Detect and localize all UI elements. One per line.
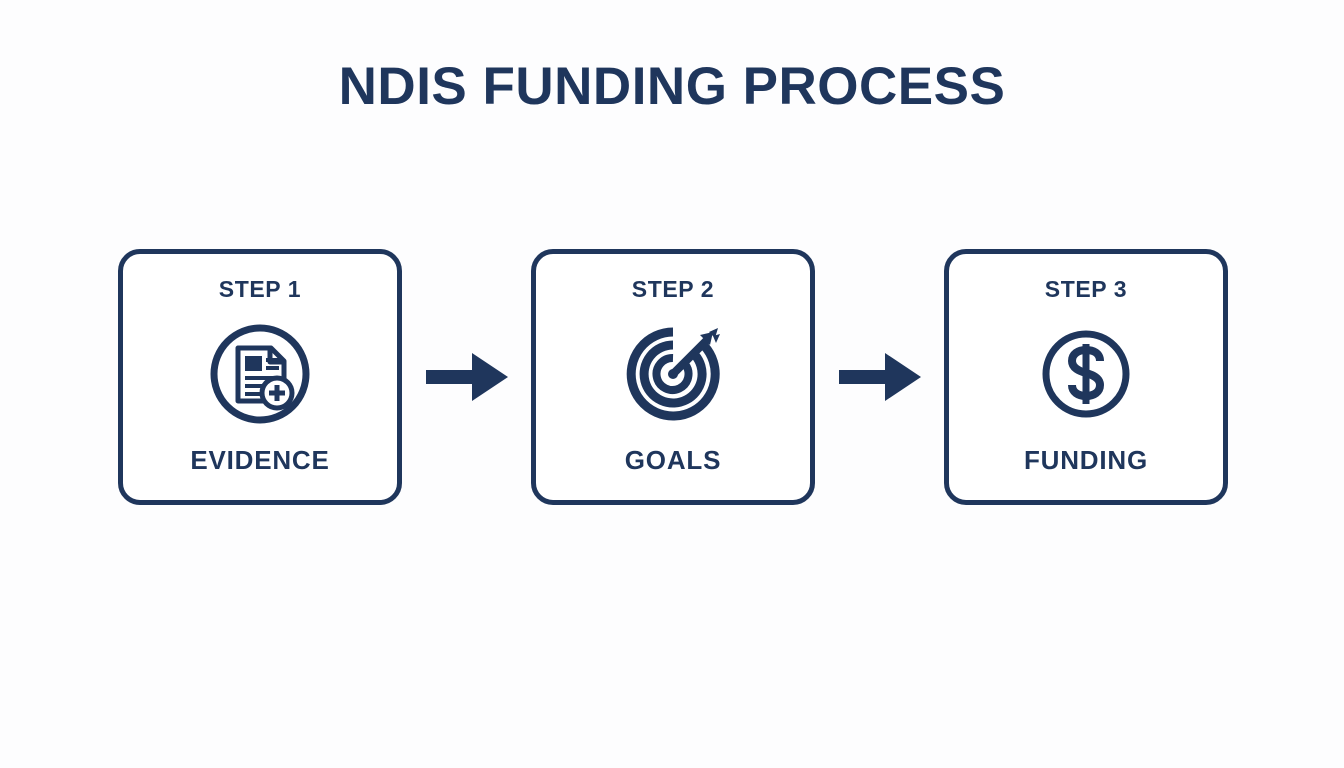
step-card-2-label: GOALS xyxy=(625,445,721,476)
step-card-3-label: FUNDING xyxy=(1024,445,1148,476)
arrow-right-icon xyxy=(424,348,510,406)
step-card-3-title: STEP 3 xyxy=(1045,276,1127,303)
document-plus-icon xyxy=(208,322,312,426)
process-flow: STEP 1 xyxy=(118,249,1228,505)
diagram-canvas: NDIS FUNDING PROCESS STEP 1 xyxy=(0,0,1344,768)
page-title: NDIS FUNDING PROCESS xyxy=(0,58,1344,116)
step-card-2[interactable]: STEP 2 GOALS xyxy=(531,249,815,505)
step-card-1[interactable]: STEP 1 xyxy=(118,249,402,505)
dollar-coin-icon xyxy=(1034,322,1138,426)
target-arrow-icon xyxy=(621,322,725,426)
step-card-2-title: STEP 2 xyxy=(632,276,714,303)
step-card-1-label: EVIDENCE xyxy=(190,445,329,476)
step-card-3[interactable]: STEP 3 FUNDING xyxy=(944,249,1228,505)
step-card-1-title: STEP 1 xyxy=(219,276,301,303)
arrow-right-icon xyxy=(837,348,923,406)
